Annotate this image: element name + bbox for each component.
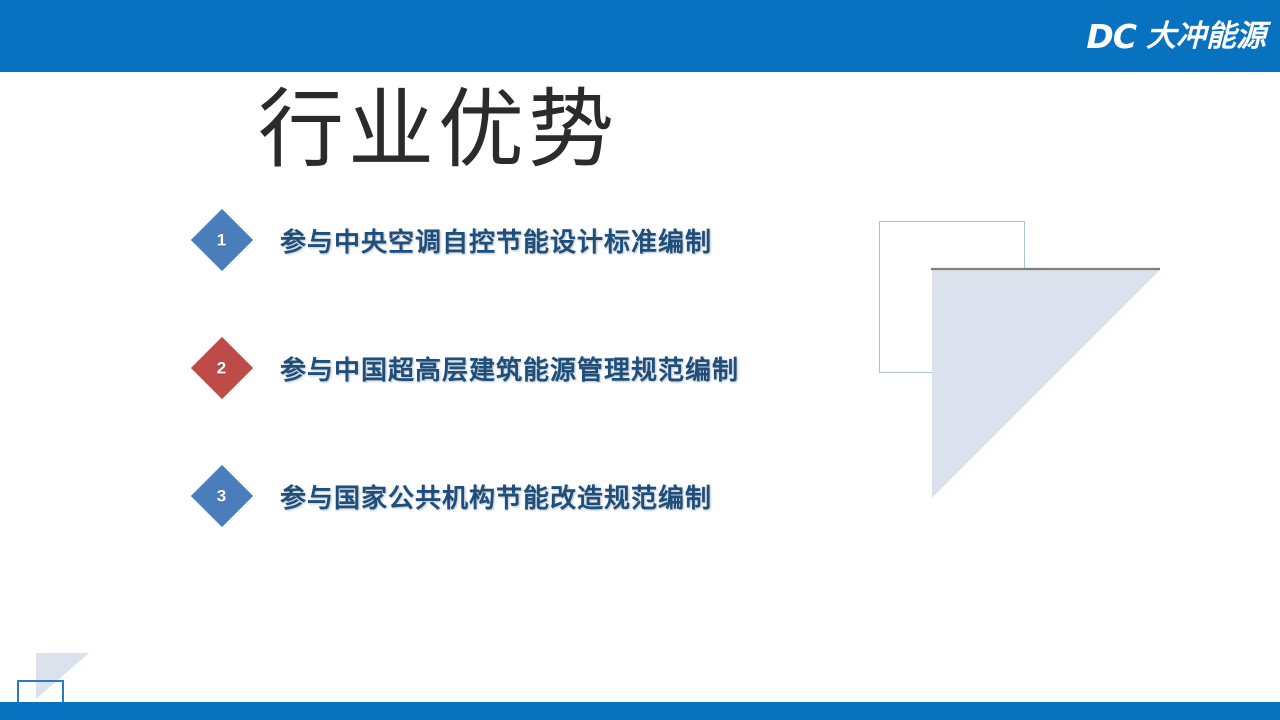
page-title: 行业优势: [258, 82, 618, 178]
diamond-marker-2: 2: [191, 337, 253, 399]
decoration-triangle: [931, 267, 1161, 499]
advantage-text-3: 参与国家公共机构节能改造规范编制: [280, 478, 712, 515]
advantage-text-1: 参与中央空调自控节能设计标准编制: [280, 222, 712, 259]
diamond-marker-3: 3: [191, 465, 253, 527]
diamond-number-label: 3: [217, 488, 226, 505]
list-item: 2 参与中国超高层建筑能源管理规范编制: [196, 340, 836, 468]
advantage-text-2: 参与中国超高层建筑能源管理规范编制: [280, 350, 739, 387]
list-item: 3 参与国家公共机构节能改造规范编制: [196, 468, 836, 596]
diamond-marker-1: 1: [191, 209, 253, 271]
diamond-number-label: 2: [217, 360, 226, 377]
diamond-number-label: 1: [217, 232, 226, 249]
logo-company-name: 大冲能源: [1146, 22, 1266, 52]
slide-canvas: DC 大冲能源 行业优势 1 参与中央空调自控节能设计标准编制 2 参与中国超高…: [0, 0, 1280, 720]
logo-mark-dc: DC: [1086, 20, 1136, 53]
header-banner: DC 大冲能源: [0, 0, 1280, 72]
right-decoration: [879, 221, 1169, 511]
list-item: 1 参与中央空调自控节能设计标准编制: [196, 212, 836, 340]
brand-logo: DC 大冲能源: [1086, 16, 1266, 58]
advantage-list: 1 参与中央空调自控节能设计标准编制 2 参与中国超高层建筑能源管理规范编制 3…: [196, 212, 836, 596]
footer-banner: [0, 702, 1280, 720]
